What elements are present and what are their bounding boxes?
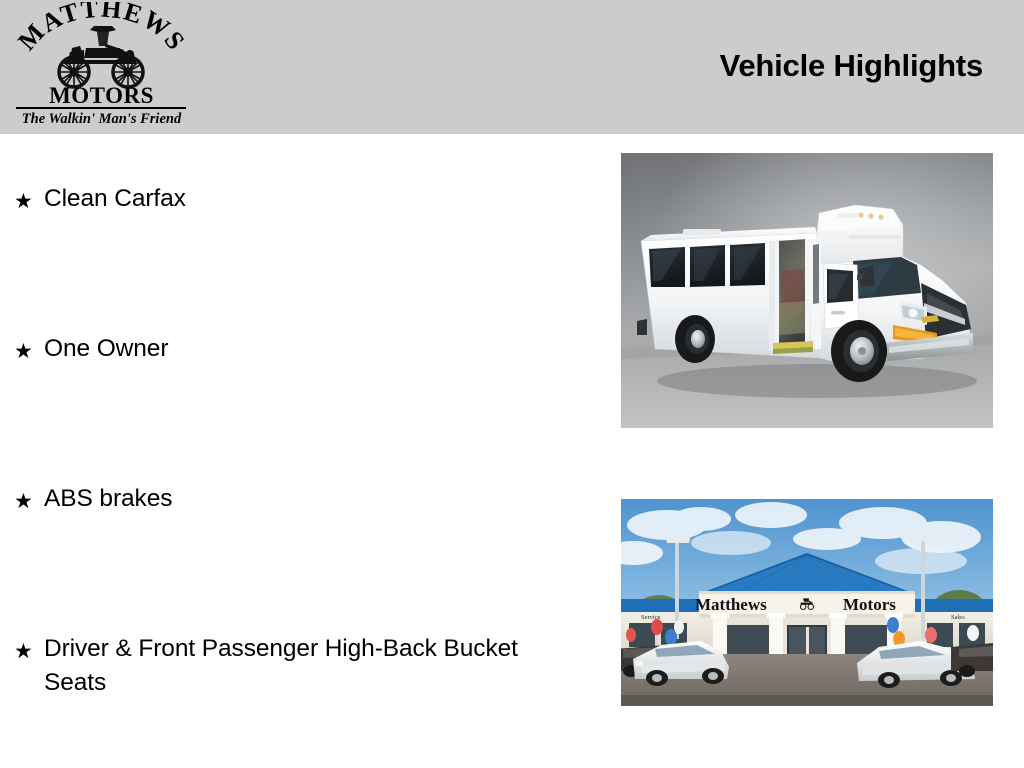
star-bullet-icon: ★ — [14, 491, 33, 512]
highlight-label: Clean Carfax — [44, 182, 584, 216]
logo-tagline: The Walkin' Man's Friend — [14, 111, 189, 128]
highlight-label: One Owner — [44, 332, 584, 366]
company-logo: MATTHEWS — [14, 2, 189, 130]
vehicle-photo — [621, 153, 993, 428]
star-bullet-icon: ★ — [14, 341, 33, 362]
logo-wordmark: MOTORS — [14, 84, 189, 107]
logo-wordmark-text: MOTORS — [49, 83, 154, 108]
highlight-label: Driver & Front Passenger High-Back Bucke… — [44, 632, 584, 700]
vehicle-highlights-list: ★ Clean Carfax ★ One Owner ★ ABS brakes … — [0, 152, 600, 752]
logo-divider — [16, 107, 186, 109]
highlight-label: ABS brakes — [44, 482, 584, 516]
star-bullet-icon: ★ — [14, 191, 33, 212]
antique-carriage-icon — [50, 24, 154, 90]
star-bullet-icon: ★ — [14, 641, 33, 662]
list-item: ★ Clean Carfax — [0, 152, 600, 302]
list-item: ★ One Owner — [0, 302, 600, 452]
page-title: Vehicle Highlights — [720, 48, 983, 84]
list-item: ★ ABS brakes — [0, 452, 600, 602]
list-item: ★ Driver & Front Passenger High-Back Buc… — [0, 602, 600, 752]
dealership-photo: Service Sales Matthews Motors — [621, 499, 993, 706]
svg-text:Sales: Sales — [951, 614, 965, 621]
